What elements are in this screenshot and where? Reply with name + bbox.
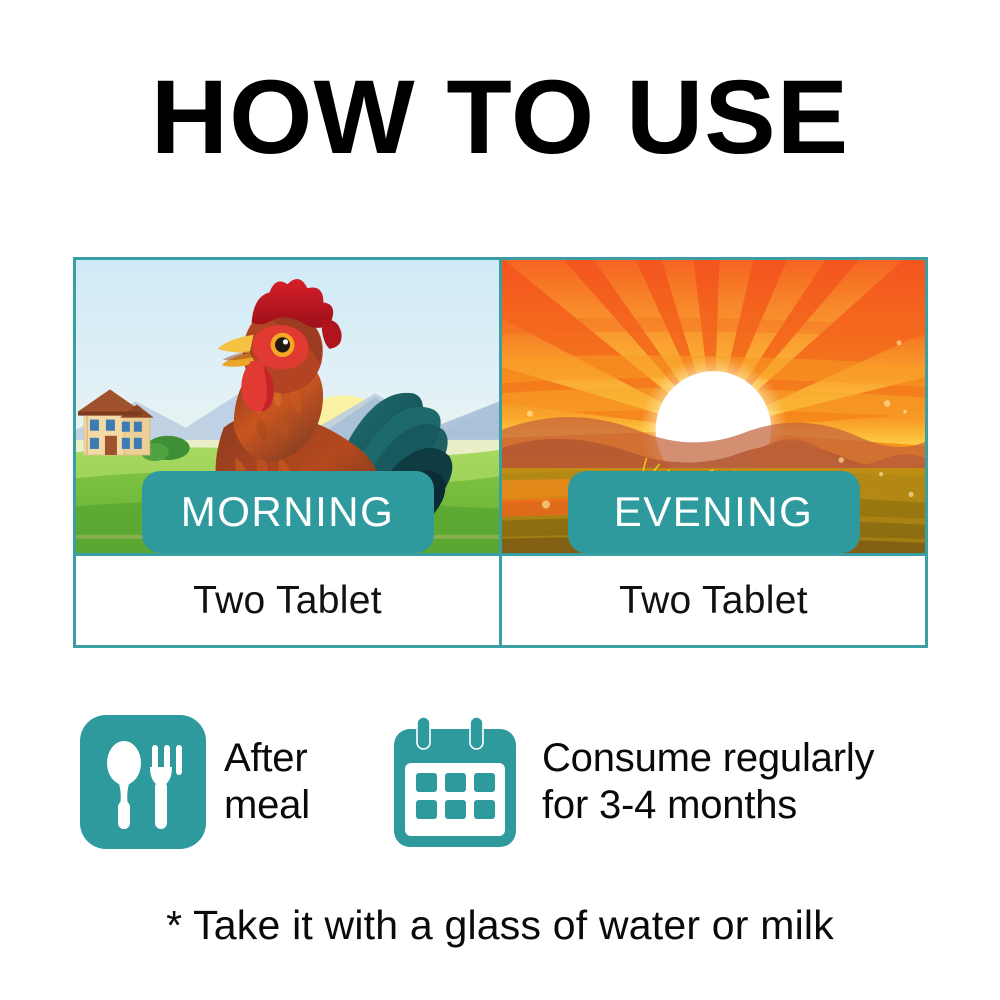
evening-dose-cell: Two Tablet xyxy=(502,556,925,645)
footnote-text: * Take it with a glass of water or milk xyxy=(0,902,1000,949)
how-to-use-infographic: HOW TO USE xyxy=(0,0,1000,1000)
feature-row: After meal xyxy=(0,713,1000,853)
feature-after-meal: After meal xyxy=(80,715,310,849)
evening-label-pill: EVENING xyxy=(568,471,860,553)
page-title: HOW TO USE xyxy=(0,62,1000,174)
morning-dose-cell: Two Tablet xyxy=(76,556,502,645)
feature-duration: Consume regularly for 3-4 months xyxy=(392,715,874,849)
evening-dose-text: Two Tablet xyxy=(502,556,925,645)
feature-duration-line1: Consume regularly xyxy=(542,735,874,782)
morning-dose-text: Two Tablet xyxy=(76,556,499,645)
schedule-image-row: MORNING xyxy=(76,260,925,553)
morning-label-text: MORNING xyxy=(181,488,395,536)
evening-scene-cell: EVENING xyxy=(502,260,925,553)
feature-after-meal-label: After meal xyxy=(224,735,310,829)
morning-label-pill: MORNING xyxy=(142,471,434,553)
calendar-icon xyxy=(392,715,518,849)
spoon-fork-icon xyxy=(80,715,206,849)
feature-duration-label: Consume regularly for 3-4 months xyxy=(542,735,874,829)
schedule-dose-row: Two Tablet Two Tablet xyxy=(76,553,925,645)
feature-after-meal-line2: meal xyxy=(224,782,310,829)
feature-duration-line2: for 3-4 months xyxy=(542,782,874,829)
morning-scene-cell: MORNING xyxy=(76,260,502,553)
feature-after-meal-line1: After xyxy=(224,735,310,782)
dosage-schedule-table: MORNING xyxy=(73,257,928,648)
evening-label-text: EVENING xyxy=(614,488,814,536)
